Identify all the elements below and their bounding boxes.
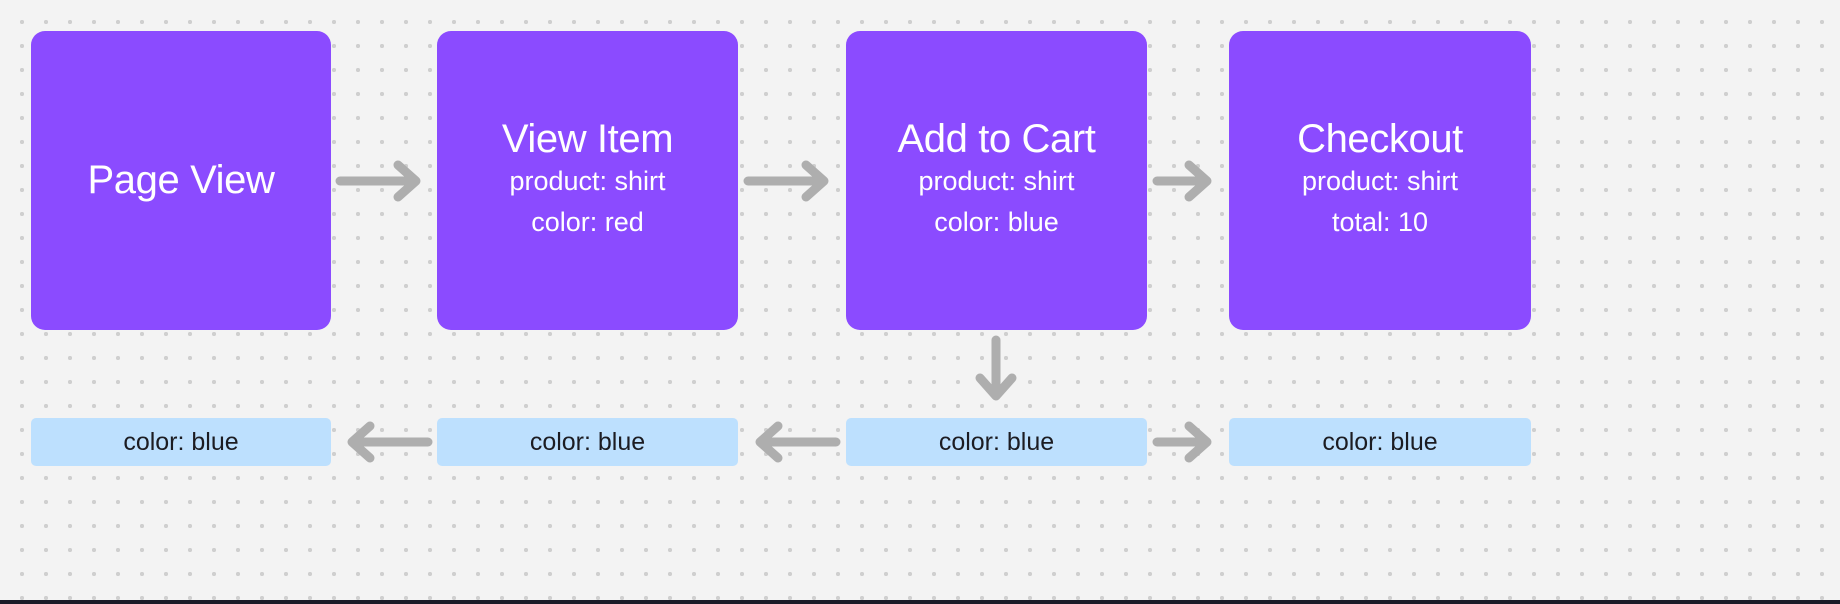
arrow-property-node-2-to-property-node-1 xyxy=(336,419,432,465)
event-node-property: product: shirt xyxy=(918,161,1074,202)
event-node-title: Page View xyxy=(88,159,275,202)
arrow-view-item-to-add-to-cart xyxy=(744,158,840,204)
arrow-property-node-3-to-property-node-2 xyxy=(744,419,840,465)
property-node-label: color: blue xyxy=(123,428,238,457)
arrow-page-view-to-view-item xyxy=(336,158,432,204)
property-node-2[interactable]: color: blue xyxy=(437,418,738,466)
property-node-label: color: blue xyxy=(1322,428,1437,457)
event-node-property: color: red xyxy=(531,202,644,243)
event-node-view-item[interactable]: View Item product: shirt color: red xyxy=(437,31,738,330)
property-node-3[interactable]: color: blue xyxy=(846,418,1147,466)
event-node-checkout[interactable]: Checkout product: shirt total: 10 xyxy=(1229,31,1531,330)
property-node-label: color: blue xyxy=(530,428,645,457)
event-node-page-view[interactable]: Page View xyxy=(31,31,331,330)
event-node-title: Checkout xyxy=(1297,118,1463,161)
property-node-4[interactable]: color: blue xyxy=(1229,418,1531,466)
property-node-1[interactable]: color: blue xyxy=(31,418,331,466)
event-node-add-to-cart[interactable]: Add to Cart product: shirt color: blue xyxy=(846,31,1147,330)
event-node-title: Add to Cart xyxy=(898,118,1096,161)
event-node-property: product: shirt xyxy=(1302,161,1458,202)
arrow-property-node-3-to-property-node-4 xyxy=(1153,419,1223,465)
event-node-title: View Item xyxy=(502,118,673,161)
diagram-canvas[interactable]: Page View View Item product: shirt color… xyxy=(0,0,1840,604)
property-node-label: color: blue xyxy=(939,428,1054,457)
arrow-add-to-cart-to-checkout xyxy=(1153,158,1223,204)
event-node-property: total: 10 xyxy=(1332,202,1428,243)
event-node-property: product: shirt xyxy=(509,161,665,202)
event-node-property: color: blue xyxy=(934,202,1059,243)
arrow-add-to-cart-down-to-property-node-3 xyxy=(973,336,1019,412)
